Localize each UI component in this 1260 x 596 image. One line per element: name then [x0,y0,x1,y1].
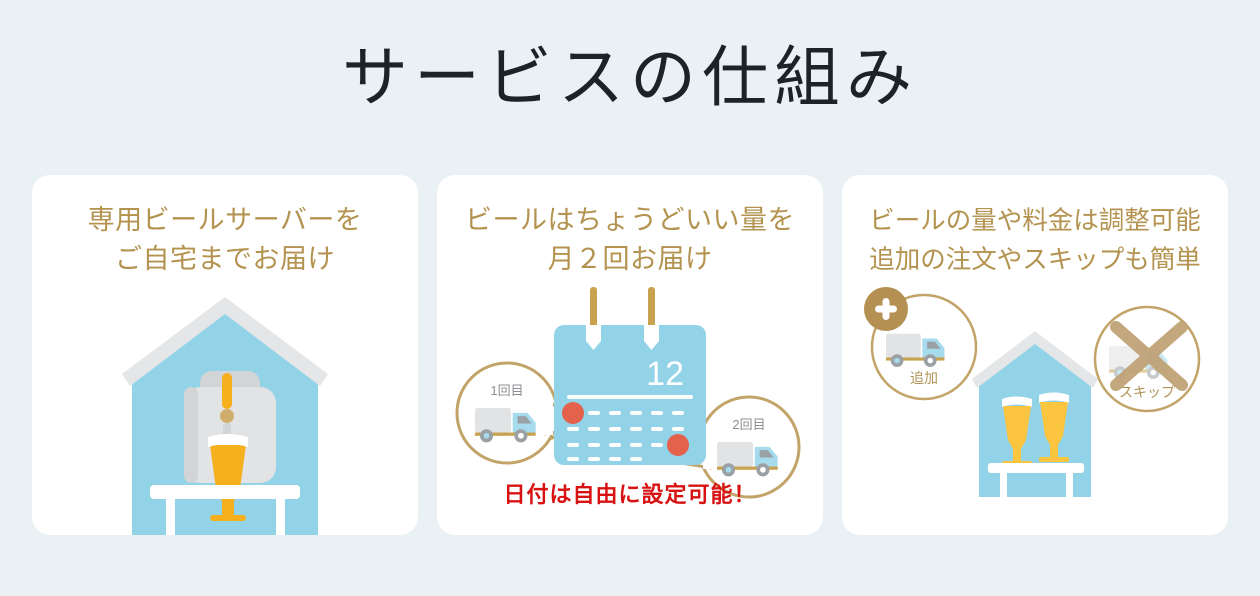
cards-container: 専用ビールサーバーを ご自宅までお届け [32,175,1228,535]
card-2-caption: 日付は自由に設定可能！ [437,477,823,509]
option-skip: スキップ [1095,307,1199,411]
card-server-delivery: 専用ビールサーバーを ご自宅までお届け [32,175,418,535]
card-3-heading-line-1: ビールの量や料金は調整可能 [842,201,1228,240]
card-3-heading: ビールの量や料金は調整可能 追加の注文やスキップも簡単 [842,201,1228,279]
add-skip-house-icon: 追加 [842,287,1228,535]
card-2-heading-line-2: 月２回お届け [437,240,823,279]
svg-text:12: 12 [646,355,684,393]
house-with-beer-server-icon [32,287,418,535]
card-2-heading-line-1: ビールはちょうどいい量を [437,201,823,240]
service-flow-page: サービスの仕組み 専用ビールサーバーを ご自宅までお届け [0,0,1260,596]
card-1-heading: 専用ビールサーバーを ご自宅までお届け [32,201,418,279]
svg-text:2回目: 2回目 [732,417,765,432]
svg-text:スキップ: スキップ [1119,384,1175,400]
svg-text:1回目: 1回目 [490,383,523,398]
card-3-heading-line-2: 追加の注文やスキップも簡単 [842,240,1228,279]
card-twice-monthly: ビールはちょうどいい量を 月２回お届け 1回目 [437,175,823,535]
card-1-heading-line-1: 専用ビールサーバーを [32,201,418,240]
card-2-heading: ビールはちょうどいい量を 月２回お届け [437,201,823,279]
calendar-marker-1 [562,402,584,424]
card-1-heading-line-2: ご自宅までお届け [32,240,418,279]
page-title: サービスの仕組み [0,46,1260,112]
option-add: 追加 [864,287,976,399]
svg-text:追加: 追加 [910,370,938,386]
card-flexible-plan: ビールの量や料金は調整可能 追加の注文やスキップも簡単 [842,175,1228,535]
calendar-marker-2 [667,434,689,456]
house-two-glasses-icon [972,331,1098,497]
